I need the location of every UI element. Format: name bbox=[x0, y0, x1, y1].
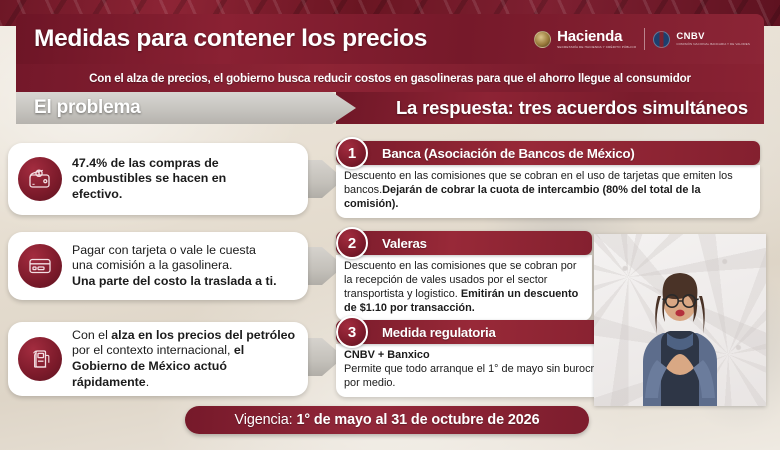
problem-card-1: 47.4% de las compras de combustibles se … bbox=[8, 143, 308, 215]
answer-3-body: CNBV + Banxico Permite que todo arranque… bbox=[336, 344, 638, 397]
answer-3-body-bold: CNBV + Banxico bbox=[344, 349, 430, 361]
problem-2-line-1: Pagar con tarjeta o vale le cuesta bbox=[72, 243, 256, 257]
validity-footer-pill: Vigencia: 1° de mayo al 31 de octubre de… bbox=[185, 406, 589, 434]
answer-item-3: 3 Medida regulatoria CNBV + Banxico Perm… bbox=[336, 320, 638, 397]
problem-1-line-3: efectivo. bbox=[72, 187, 122, 201]
problem-3-text-2: por el contexto internacional, bbox=[72, 343, 234, 357]
answer-1-title: Banca (Asociación de Bancos de México) bbox=[382, 146, 635, 161]
problem-3-text-1: Con el bbox=[72, 328, 111, 342]
answer-item-1: 1 Banca (Asociación de Bancos de México)… bbox=[336, 141, 760, 218]
problem-3-text-3: . bbox=[146, 375, 149, 389]
header-logos: Hacienda SECRETARÍA DE HACIENDA Y CRÉDIT… bbox=[534, 28, 750, 50]
problem-card-3-text: Con el alza en los precios del petróleo … bbox=[72, 328, 296, 391]
answer-2-header: 2 Valeras bbox=[336, 231, 592, 255]
hacienda-logo-name: Hacienda bbox=[557, 29, 636, 44]
fuel-pump-icon bbox=[18, 337, 62, 381]
validity-value: 1° de mayo al 31 de octubre de 2026 bbox=[296, 412, 539, 428]
header-bar: Medidas para contener los precios Hacien… bbox=[16, 14, 764, 64]
cnbv-logo-subtitle: COMISIÓN NACIONAL BANCARIA Y DE VALORES bbox=[676, 43, 750, 46]
problem-column-band: El problema bbox=[16, 92, 356, 124]
subtitle-text: Con el alza de precios, el gobierno busc… bbox=[89, 72, 691, 85]
interpreter-figure bbox=[621, 270, 739, 406]
answer-1-number-badge: 1 bbox=[336, 137, 368, 169]
answer-3-body-normal: Permite que todo arranque el 1° de mayo … bbox=[344, 363, 629, 389]
sign-language-interpreter-video bbox=[594, 234, 766, 406]
problem-card-2-text: Pagar con tarjeta o vale le cuesta una c… bbox=[72, 243, 277, 290]
subtitle-bar: Con el alza de precios, el gobierno busc… bbox=[16, 64, 764, 92]
credit-card-icon bbox=[18, 244, 62, 288]
answer-2-title: Valeras bbox=[382, 236, 427, 251]
mexican-eagle-seal-icon bbox=[534, 31, 551, 48]
problem-1-line-1: 47.4% de las compras de bbox=[72, 156, 219, 170]
problem-2-line-3: Una parte del costo la traslada a ti. bbox=[72, 274, 277, 288]
answer-column-title: La respuesta: tres acuerdos simultáneos bbox=[396, 97, 748, 119]
wallet-icon bbox=[18, 157, 62, 201]
answer-1-body: Descuento en las comisiones que se cobra… bbox=[336, 165, 760, 218]
problem-card-1-text: 47.4% de las compras de combustibles se … bbox=[72, 156, 226, 203]
validity-label: Vigencia: bbox=[235, 412, 297, 428]
answer-column-band: La respuesta: tres acuerdos simultáneos bbox=[336, 92, 764, 124]
cnbv-logo-name: CNBV bbox=[676, 32, 750, 42]
answer-3-title: Medida regulatoria bbox=[382, 325, 496, 340]
problem-card-3: Con el alza en los precios del petróleo … bbox=[8, 322, 308, 396]
answer-1-header: 1 Banca (Asociación de Bancos de México) bbox=[336, 141, 760, 165]
answer-3-header: 3 Medida regulatoria bbox=[336, 320, 638, 344]
hacienda-logo: Hacienda SECRETARÍA DE HACIENDA Y CRÉDIT… bbox=[534, 29, 636, 49]
answer-1-body-bold: Dejarán de cobrar la cuota de intercambi… bbox=[344, 184, 701, 210]
problem-column-title: El problema bbox=[34, 97, 141, 119]
problem-2-line-2: una comisión a la gasolinera. bbox=[72, 258, 233, 272]
page-title: Medidas para contener los precios bbox=[34, 25, 427, 53]
problem-card-2: Pagar con tarjeta o vale le cuesta una c… bbox=[8, 232, 308, 300]
answer-3-number-badge: 3 bbox=[336, 316, 368, 348]
cnbv-logo: CNBV COMISIÓN NACIONAL BANCARIA Y DE VAL… bbox=[653, 31, 750, 48]
answer-item-2: 2 Valeras Descuento en las comisiones qu… bbox=[336, 231, 592, 321]
cnbv-globe-icon bbox=[653, 31, 670, 48]
answer-2-body: Descuento en las comisiones que se cobra… bbox=[336, 255, 592, 321]
logo-divider bbox=[644, 28, 645, 50]
problem-3-bold-1: alza en los precios del petróleo bbox=[111, 328, 295, 342]
problem-1-line-2: combustibles se hacen en bbox=[72, 171, 226, 185]
answer-2-number-badge: 2 bbox=[336, 227, 368, 259]
hacienda-logo-subtitle: SECRETARÍA DE HACIENDA Y CRÉDITO PÚBLICO bbox=[557, 46, 636, 49]
validity-text: Vigencia: 1° de mayo al 31 de octubre de… bbox=[235, 412, 540, 428]
